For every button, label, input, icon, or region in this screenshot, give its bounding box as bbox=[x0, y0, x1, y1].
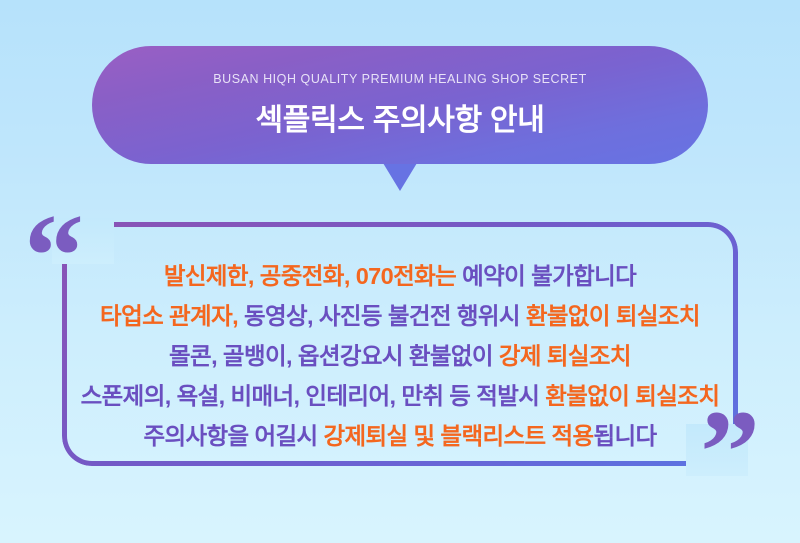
notice-text-segment: 발신제한, 공중전화, 070전화는 bbox=[164, 263, 462, 289]
notice-text-segment: 환불없이 퇴실조치 bbox=[526, 303, 700, 329]
notice-text-segment: 동영상, 사진등 불건전 행위시 bbox=[244, 303, 526, 329]
notice-text-segment: 스폰제의, 욕설, 비매너, 인테리어, 만취 등 적발시 bbox=[81, 383, 546, 409]
notice-text-segment: 몰콘, 골뱅이, 옵션강요시 환불없이 bbox=[169, 343, 499, 369]
notice-text-segment: 강제퇴실 및 블랙리스트 적용 bbox=[323, 423, 593, 449]
speech-bubble-tail bbox=[383, 163, 417, 191]
notice-text-segment: 환불없이 퇴실조치 bbox=[545, 383, 719, 409]
notice-text-segment: 타업소 관계자, bbox=[100, 303, 244, 329]
header-banner: BUSAN HIQH QUALITY PREMIUM HEALING SHOP … bbox=[92, 46, 708, 164]
notice-line-list: 발신제한, 공중전화, 070전화는 예약이 불가합니다타업소 관계자, 동영상… bbox=[0, 256, 800, 456]
notice-line-1: 발신제한, 공중전화, 070전화는 예약이 불가합니다 bbox=[164, 256, 636, 296]
notice-line-4: 스폰제의, 욕설, 비매너, 인테리어, 만취 등 적발시 환불없이 퇴실조치 bbox=[81, 376, 720, 416]
notice-line-3: 몰콘, 골뱅이, 옵션강요시 환불없이 강제 퇴실조치 bbox=[169, 336, 631, 376]
banner-title: 섹플릭스 주의사항 안내 bbox=[255, 95, 544, 139]
notice-text-segment: 예약이 불가합니다 bbox=[462, 263, 636, 289]
notice-text-segment: 강제 퇴실조치 bbox=[499, 343, 631, 369]
notice-text-segment: 됩니다 bbox=[594, 423, 657, 449]
header-banner-wrapper: BUSAN HIQH QUALITY PREMIUM HEALING SHOP … bbox=[0, 46, 800, 191]
notice-text-segment: 주의사항을 어길시 bbox=[143, 423, 323, 449]
notice-line-5: 주의사항을 어길시 강제퇴실 및 블랙리스트 적용됩니다 bbox=[143, 416, 656, 456]
banner-subtitle: BUSAN HIQH QUALITY PREMIUM HEALING SHOP … bbox=[213, 72, 587, 86]
notice-line-2: 타업소 관계자, 동영상, 사진등 불건전 행위시 환불없이 퇴실조치 bbox=[100, 296, 700, 336]
